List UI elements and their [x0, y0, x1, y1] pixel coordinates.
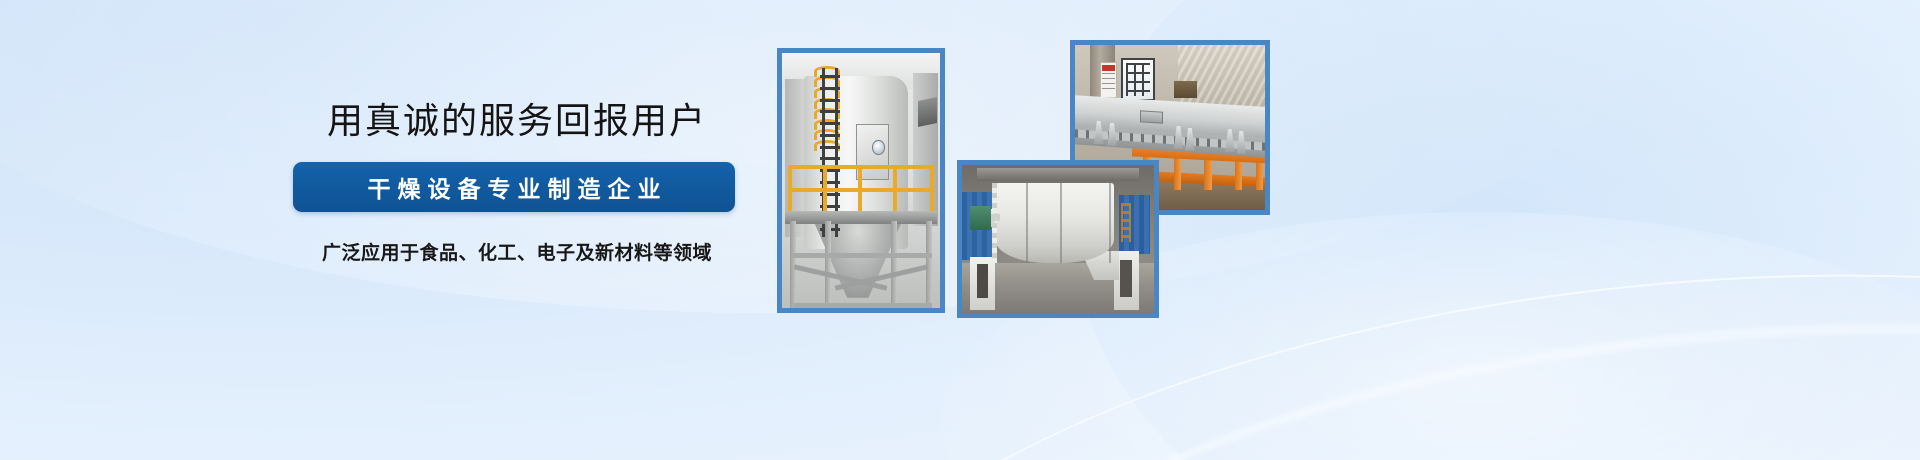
hero-copy-block: 用真诚的服务回报用户 干燥设备专业制造企业 广泛应用于食品、化工、电子及新材料等… — [293, 100, 741, 265]
support-frame — [787, 221, 936, 308]
hero-banner: 用真诚的服务回报用户 干燥设备专业制造企业 广泛应用于食品、化工、电子及新材料等… — [0, 0, 1920, 460]
hero-badge-label: 干燥设备专业制造企业 — [361, 170, 668, 204]
mixer-tank — [995, 183, 1114, 263]
drive-motor — [970, 206, 991, 230]
spray-dryer-scene — [782, 53, 940, 308]
hero-subline: 广泛应用于食品、化工、电子及新材料等领域 — [293, 238, 741, 265]
platform-railing — [788, 165, 933, 213]
wall-notice-sign — [1100, 62, 1117, 98]
spray-dryer-tower-photo — [777, 48, 945, 313]
photo-collage — [0, 0, 1920, 460]
workshop-window — [1121, 58, 1155, 101]
ribbon-mixer-scene — [962, 165, 1154, 313]
hero-headline: 用真诚的服务回报用户 — [293, 100, 741, 142]
control-box — [1174, 81, 1197, 98]
ribbon-mixer-photo — [957, 160, 1159, 318]
hero-badge: 干燥设备专业制造企业 — [293, 162, 735, 212]
workshop-ladder — [1121, 203, 1131, 241]
